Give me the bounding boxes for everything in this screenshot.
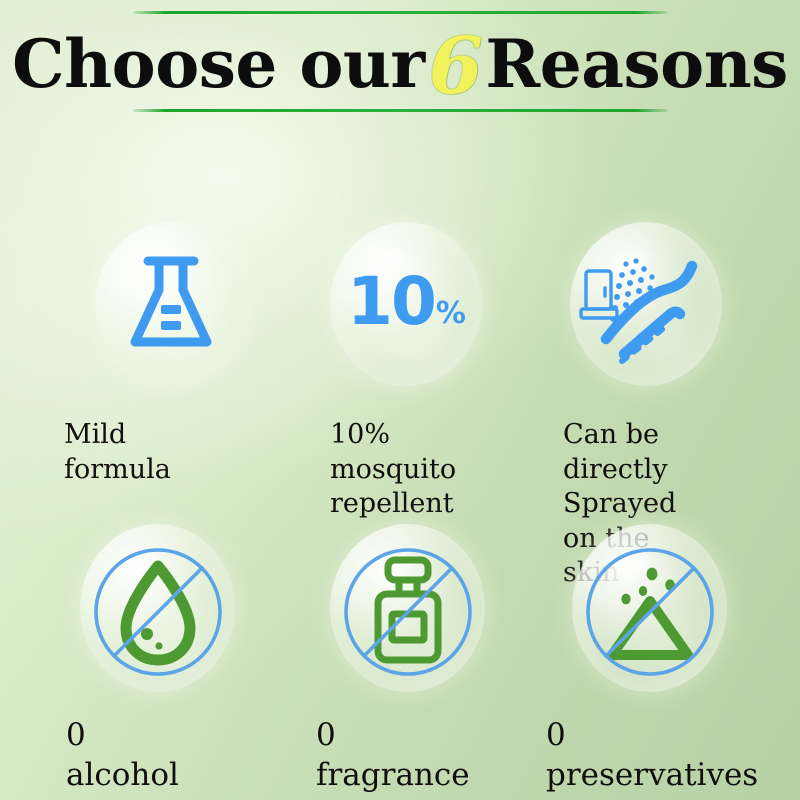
bubble-backdrop — [330, 222, 482, 386]
feature-caption-zero-fragrance: 0 fragrance — [316, 716, 470, 795]
infographic-poster: Choose our 6 Reasons Mild formula — [0, 0, 800, 800]
page-title: Choose our 6 Reasons — [0, 18, 800, 104]
header-rule-top — [133, 11, 668, 14]
title-prefix: Choose our — [12, 31, 424, 97]
title-suffix: Reasons — [485, 31, 787, 97]
feature-caption-mild-formula: Mild formula — [64, 418, 171, 487]
feature-grid: Mild formula 10 % 10% mosquito repellent — [0, 196, 800, 796]
bubble-backdrop — [95, 222, 247, 386]
bubble-backdrop — [572, 524, 727, 692]
bubble-backdrop — [80, 524, 235, 692]
feature-caption-zero-preservatives: 0 preservatives — [546, 716, 758, 795]
bubble-backdrop — [330, 524, 485, 692]
feature-caption-zero-alcohol: 0 alcohol — [66, 716, 179, 795]
header-rule-bottom — [133, 109, 668, 112]
bubble-backdrop — [570, 222, 722, 386]
feature-caption-mosquito-repellent: 10% mosquito repellent — [330, 418, 456, 522]
title-number: 6 — [429, 28, 483, 106]
